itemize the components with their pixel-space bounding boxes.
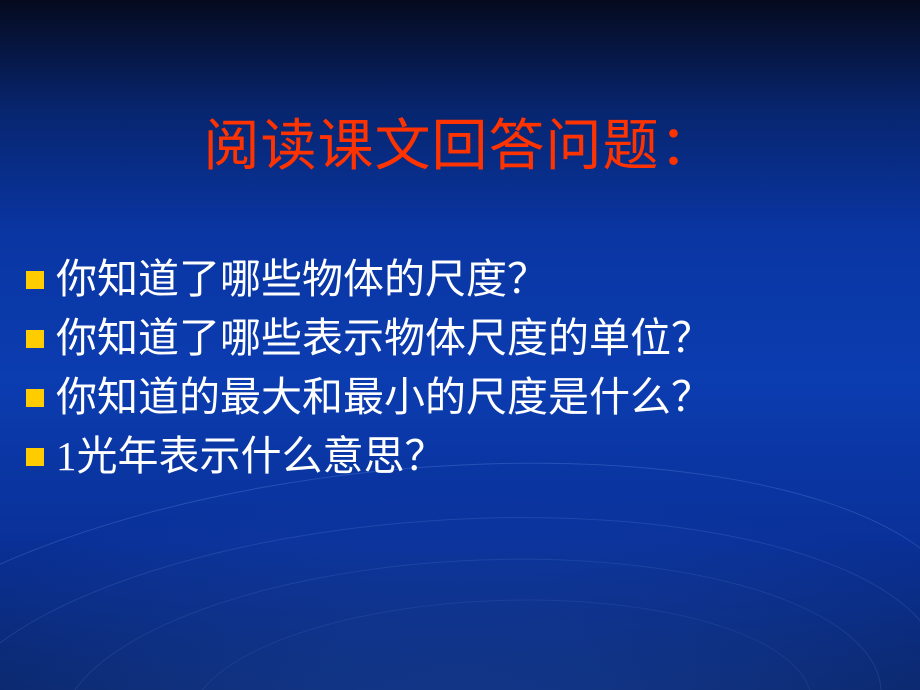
bullet-list: 你知道了哪些物体的尺度？ 你知道了哪些表示物体尺度的单位？ 你知道的最大和最小的… <box>26 254 906 490</box>
decorative-swirl-line <box>0 485 920 690</box>
list-item-label: 你知道了哪些物体的尺度？ <box>56 254 548 304</box>
square-bullet-icon <box>26 448 44 466</box>
list-item: 你知道了哪些物体的尺度？ <box>26 254 906 304</box>
list-item-label: 1光年表示什么意思？ <box>56 431 446 481</box>
list-item-label: 你知道了哪些表示物体尺度的单位？ <box>56 313 712 363</box>
decorative-swirl-line <box>186 589 815 690</box>
square-bullet-icon <box>26 389 44 407</box>
list-item: 你知道了哪些表示物体尺度的单位？ <box>26 313 906 363</box>
square-bullet-icon <box>26 330 44 348</box>
list-item-label: 你知道的最大和最小的尺度是什么？ <box>56 372 712 422</box>
decorative-swirl-line <box>53 539 890 690</box>
square-bullet-icon <box>26 271 44 289</box>
list-item: 你知道的最大和最小的尺度是什么？ <box>26 372 906 422</box>
presentation-slide: 阅读课文回答问题： 你知道了哪些物体的尺度？ 你知道了哪些表示物体尺度的单位？ … <box>0 0 920 690</box>
list-item: 1光年表示什么意思？ <box>26 431 906 481</box>
slide-title: 阅读课文回答问题： <box>0 118 920 177</box>
